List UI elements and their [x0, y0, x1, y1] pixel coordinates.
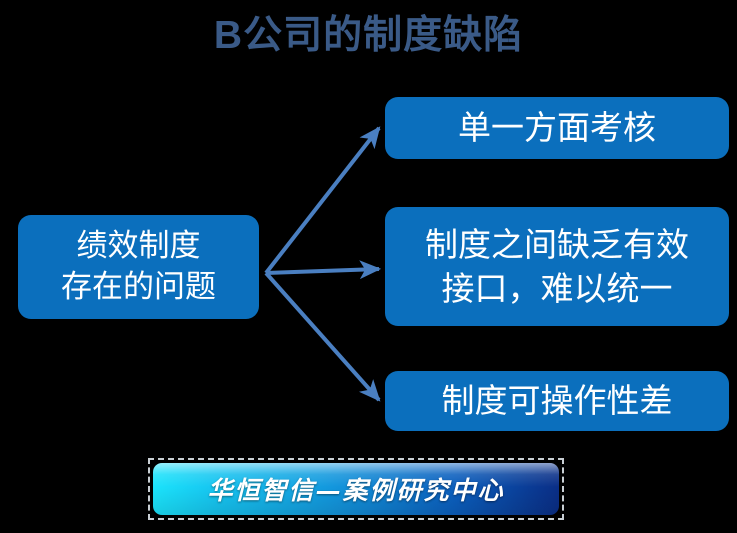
footer-banner[interactable]: 华恒智信—案例研究中心	[148, 458, 564, 520]
slide-canvas: B公司的制度缺陷 绩效制度 存在的问题 单一方面考核 制度之间缺乏有效 接口，难…	[0, 0, 737, 533]
node-root-problem[interactable]: 绩效制度 存在的问题	[18, 215, 259, 319]
arrow-to-branch-2	[266, 269, 379, 273]
footer-banner-text: 华恒智信—案例研究中心	[207, 471, 504, 507]
arrow-to-branch-3	[266, 273, 379, 400]
node-branch-1[interactable]: 单一方面考核	[385, 97, 729, 159]
node-branch-3[interactable]: 制度可操作性差	[385, 371, 729, 431]
node-root-line2: 存在的问题	[61, 267, 216, 308]
node-branch-2-line2: 接口，难以统一	[425, 267, 689, 311]
arrow-to-branch-1	[266, 128, 379, 273]
node-root-line1: 绩效制度	[61, 226, 216, 267]
node-branch-2-line1: 制度之间缺乏有效	[425, 223, 689, 267]
page-title: B公司的制度缺陷	[0, 14, 737, 58]
node-branch-3-line1: 制度可操作性差	[442, 380, 673, 423]
footer-banner-surface: 华恒智信—案例研究中心	[153, 463, 559, 515]
node-branch-1-line1: 单一方面考核	[458, 107, 656, 150]
node-branch-2[interactable]: 制度之间缺乏有效 接口，难以统一	[385, 207, 729, 326]
